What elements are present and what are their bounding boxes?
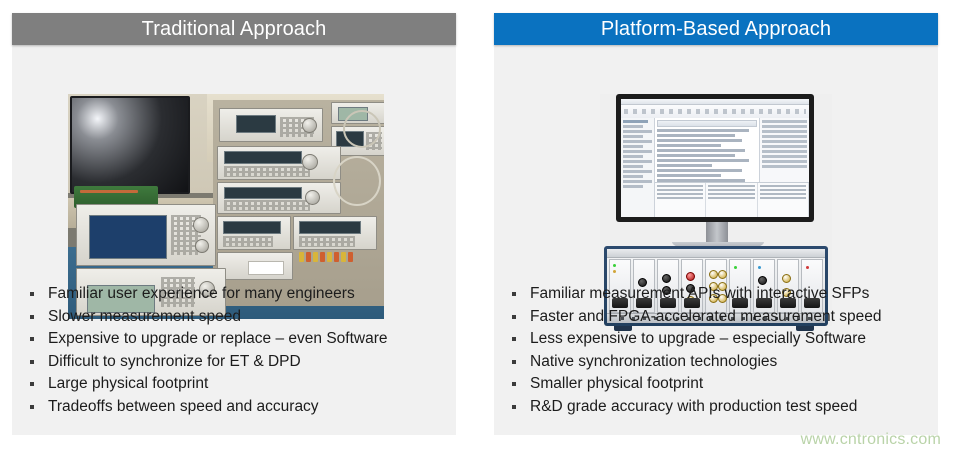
column-body-platform-based: Familiar measurement APIs with interacti… [494, 45, 938, 435]
bullet-text: Smaller physical footprint [530, 373, 703, 396]
column-traditional: Traditional Approach [12, 13, 456, 435]
site-watermark: www.cntronics.com [801, 431, 941, 449]
column-body-traditional: Familiar user experience for many engine… [12, 45, 456, 435]
bullet-text: Less expensive to upgrade – especially S… [530, 328, 866, 351]
slide-root: Traditional Approach [0, 0, 957, 459]
bullet-text: Native synchronization technologies [530, 351, 777, 374]
bullet-text: Tradeoffs between speed and accuracy [48, 396, 319, 419]
list-item: Familiar measurement APIs with interacti… [512, 283, 882, 306]
bullet-square-icon [512, 360, 516, 364]
list-item: Difficult to synchronize for ET & DPD [30, 351, 388, 374]
bullet-square-icon [30, 337, 34, 341]
bullet-square-icon [30, 382, 34, 386]
bullet-text: Expensive to upgrade or replace – even S… [48, 328, 388, 351]
bullet-square-icon [30, 360, 34, 364]
bullet-square-icon [30, 292, 34, 296]
list-item: Less expensive to upgrade – especially S… [512, 328, 882, 351]
column-header-platform-based: Platform-Based Approach [494, 13, 938, 45]
list-item: Large physical footprint [30, 373, 388, 396]
list-item: Faster and FPGA-accelerated measurement … [512, 306, 882, 329]
instrument-rack [213, 100, 384, 306]
column-platform-based: Platform-Based Approach [494, 13, 938, 435]
list-item: Expensive to upgrade or replace – even S… [30, 328, 388, 351]
list-item: Slower measurement speed [30, 306, 388, 329]
bullet-list-traditional: Familiar user experience for many engine… [30, 283, 388, 419]
bullet-square-icon [30, 405, 34, 409]
bullet-square-icon [512, 405, 516, 409]
list-item: Familiar user experience for many engine… [30, 283, 388, 306]
list-item: Tradeoffs between speed and accuracy [30, 396, 388, 419]
list-item: Native synchronization technologies [512, 351, 882, 374]
bullet-text: Large physical footprint [48, 373, 208, 396]
bullet-square-icon [512, 292, 516, 296]
bullet-list-platform-based: Familiar measurement APIs with interacti… [512, 283, 882, 419]
bullet-text: Familiar user experience for many engine… [48, 283, 355, 306]
bullet-square-icon [512, 337, 516, 341]
bullet-text: Slower measurement speed [48, 306, 241, 329]
bullet-text: Familiar measurement APIs with interacti… [530, 283, 869, 306]
bullet-text: R&D grade accuracy with production test … [530, 396, 857, 419]
monitor-screen [621, 99, 809, 217]
bullet-text: Difficult to synchronize for ET & DPD [48, 351, 301, 374]
desktop-monitor [616, 94, 814, 222]
bullet-square-icon [30, 315, 34, 319]
list-item: Smaller physical footprint [512, 373, 882, 396]
bench-monitor [70, 96, 190, 194]
column-header-traditional: Traditional Approach [12, 13, 456, 45]
bullet-square-icon [512, 382, 516, 386]
monitor-stand-neck [706, 222, 728, 244]
bullet-text: Faster and FPGA-accelerated measurement … [530, 306, 882, 329]
list-item: R&D grade accuracy with production test … [512, 396, 882, 419]
bullet-square-icon [512, 315, 516, 319]
